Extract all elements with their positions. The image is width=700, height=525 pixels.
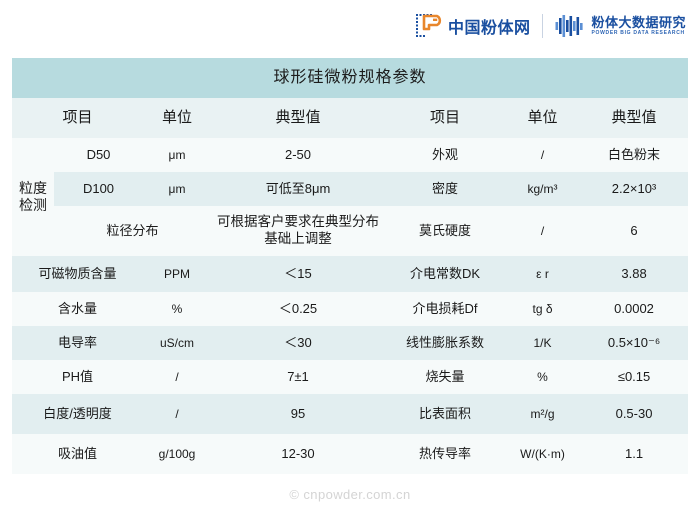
cell-left-item: 可磁物质含量 [12,256,143,292]
cell-right-unit: % [505,360,580,394]
cell-left-value: 7±1 [211,360,385,394]
cell-right-unit: kg/m³ [505,172,580,206]
page-title: 球形硅微粉规格参数 [12,58,688,98]
cell-right-item: 密度 [385,172,505,206]
cell-right-item: 外观 [385,138,505,172]
powder-p-logo-icon [415,13,443,39]
cell-left-unit: g/100g [143,434,211,474]
cell-left-item: 白度/透明度 [12,394,143,434]
col-header-unit-right: 单位 [505,98,580,138]
cell-right-item: 比表面积 [385,394,505,434]
cell-left-item: 粒径分布 [54,206,211,256]
brand-logos: 中国粉体网 粉体大数据研究 POWDER BIG DATA RESEARCH [415,13,686,39]
cell-left-unit: / [143,394,211,434]
cell-left-unit: / [143,360,211,394]
cell-right-unit: 1/K [505,326,580,360]
cell-right-value: 6 [580,206,688,256]
cell-left-unit: PPM [143,256,211,292]
cell-left-item: 吸油值 [12,434,143,474]
cell-right-item: 莫氏硬度 [385,206,505,256]
cell-left-unit: μm [143,138,211,172]
cell-right-unit: / [505,206,580,256]
table-row: 粒度检测 D50 μm 2-50 外观 / 白色粉末 [12,138,688,172]
cell-left-item: D100 [54,172,143,206]
cell-right-item: 烧失量 [385,360,505,394]
col-header-unit-left: 单位 [143,98,211,138]
logo-bigdata-cn: 粉体大数据研究 [591,16,686,30]
row-group-label: 粒度检测 [12,138,54,256]
cell-right-value: 0.0002 [580,292,688,326]
cell-left-value: ＜0.25 [211,292,385,326]
spec-table-container: 球形硅微粉规格参数 项目 单位 典型值 项目 单位 典型值 粒度检测 D50 μ… [12,58,688,474]
logo-bigdata-en: POWDER BIG DATA RESEARCH [591,31,686,36]
cell-left-item: D50 [54,138,143,172]
table-row: PH值 / 7±1 烧失量 % ≤0.15 [12,360,688,394]
cell-left-value: 可根据客户要求在典型分布基础上调整 [211,206,385,256]
cell-left-value: 2-50 [211,138,385,172]
logo-bigdata-text: 粉体大数据研究 POWDER BIG DATA RESEARCH [591,16,686,37]
logo-cnpowder[interactable]: 中国粉体网 [415,13,531,39]
col-header-item-left: 项目 [12,98,143,138]
cell-right-value: 3.88 [580,256,688,292]
cell-left-item: 含水量 [12,292,143,326]
bar-chart-logo-icon [555,14,585,38]
cell-right-item: 介电损耗Df [385,292,505,326]
spec-table: 球形硅微粉规格参数 项目 单位 典型值 项目 单位 典型值 粒度检测 D50 μ… [12,58,688,474]
cell-right-item: 线性膨胀系数 [385,326,505,360]
cell-right-value: 0.5×10⁻⁶ [580,326,688,360]
logo-cnpowder-text: 中国粉体网 [448,14,531,38]
table-row: 可磁物质含量 PPM ＜15 介电常数DK ε r 3.88 [12,256,688,292]
col-header-value-right: 典型值 [580,98,688,138]
cell-left-value: ＜15 [211,256,385,292]
cell-left-value: 12-30 [211,434,385,474]
cell-left-value: 95 [211,394,385,434]
cell-right-unit: ε r [505,256,580,292]
table-row: 吸油值 g/100g 12-30 热传导率 W/(K·m) 1.1 [12,434,688,474]
cell-left-unit: μm [143,172,211,206]
cell-right-unit: / [505,138,580,172]
cell-right-value: 0.5-30 [580,394,688,434]
table-row: 粒径分布 可根据客户要求在典型分布基础上调整 莫氏硬度 / 6 [12,206,688,256]
brand-divider [542,14,543,38]
cell-right-item: 介电常数DK [385,256,505,292]
site-watermark: © cnpowder.com.cn [0,487,700,502]
table-header-row: 项目 单位 典型值 项目 单位 典型值 [12,98,688,138]
cell-right-value: ≤0.15 [580,360,688,394]
cell-left-unit: % [143,292,211,326]
cell-left-item: PH值 [12,360,143,394]
table-row: 白度/透明度 / 95 比表面积 m²/g 0.5-30 [12,394,688,434]
cell-right-unit: tg δ [505,292,580,326]
logo-bigdata[interactable]: 粉体大数据研究 POWDER BIG DATA RESEARCH [555,14,686,38]
cell-right-value: 2.2×10³ [580,172,688,206]
table-title-row: 球形硅微粉规格参数 [12,58,688,98]
brand-header: 中国粉体网 粉体大数据研究 POWDER BIG DATA RESEARCH [0,0,700,52]
cell-left-unit: uS/cm [143,326,211,360]
table-row: 含水量 % ＜0.25 介电损耗Df tg δ 0.0002 [12,292,688,326]
cell-right-value: 1.1 [580,434,688,474]
col-header-item-right: 项目 [385,98,505,138]
cell-right-unit: m²/g [505,394,580,434]
table-row: 电导率 uS/cm ＜30 线性膨胀系数 1/K 0.5×10⁻⁶ [12,326,688,360]
cell-left-value: ＜30 [211,326,385,360]
cell-left-value: 可低至8μm [211,172,385,206]
cell-right-unit: W/(K·m) [505,434,580,474]
cell-right-value: 白色粉末 [580,138,688,172]
cell-right-item: 热传导率 [385,434,505,474]
table-row: D100 μm 可低至8μm 密度 kg/m³ 2.2×10³ [12,172,688,206]
cell-left-item: 电导率 [12,326,143,360]
col-header-value-left: 典型值 [211,98,385,138]
